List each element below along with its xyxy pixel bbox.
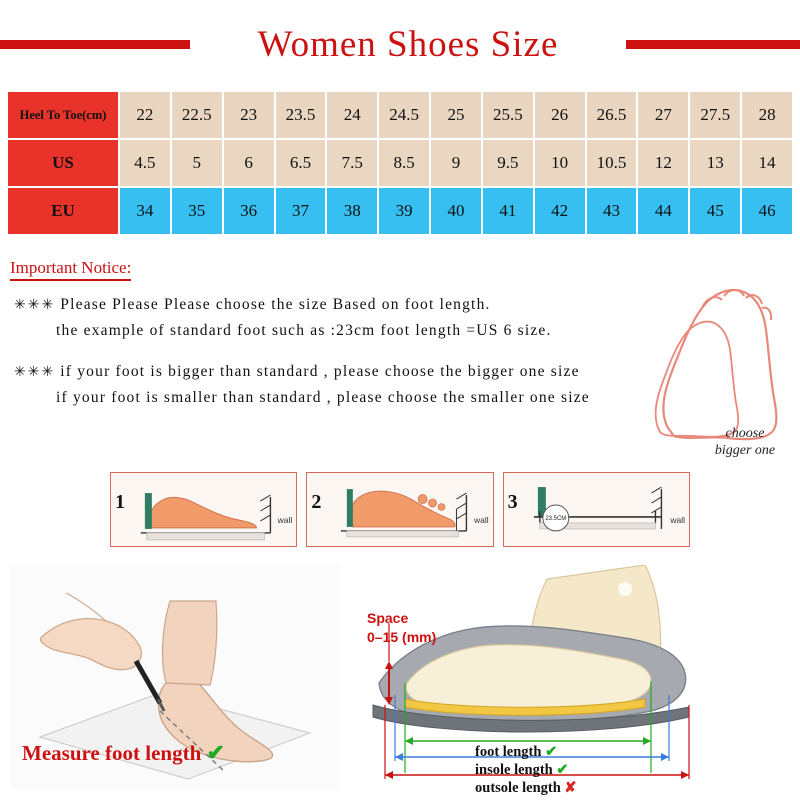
toe-circle-3 bbox=[438, 504, 445, 511]
choose-caption-line1: choose bbox=[690, 425, 800, 442]
step-3-wall-label: wall bbox=[670, 515, 685, 525]
notice-stars-2: ✳✳✳ bbox=[14, 365, 55, 380]
cell-us-0: 4.5 bbox=[119, 139, 171, 187]
title-rule-right bbox=[626, 40, 800, 49]
cell-cm-3: 23.5 bbox=[275, 91, 327, 139]
cell-us-7: 9.5 bbox=[482, 139, 534, 187]
measure-caption-text: Measure foot length bbox=[22, 741, 201, 765]
cell-cm-0: 22 bbox=[119, 91, 171, 139]
legend-item-outsole-length: outsole length ✘ bbox=[475, 779, 577, 797]
step-2-wall-label: wall bbox=[474, 515, 489, 525]
legend-item-insole-length: insole length ✔ bbox=[475, 761, 577, 779]
cell-cm-4: 24 bbox=[326, 91, 378, 139]
choose-bigger-caption: choose bigger one bbox=[690, 425, 800, 459]
cell-cm-8: 26 bbox=[534, 91, 586, 139]
cell-eu-3: 37 bbox=[275, 187, 327, 235]
step-2-number: 2 bbox=[311, 491, 321, 514]
foot-length-arrow-right bbox=[643, 737, 651, 745]
row-header-eu: EU bbox=[7, 187, 119, 235]
cell-eu-12: 46 bbox=[741, 187, 793, 235]
cell-us-1: 5 bbox=[171, 139, 223, 187]
cell-cm-2: 23 bbox=[223, 91, 275, 139]
notice-text-1: Please Please Please choose the size Bas… bbox=[60, 296, 490, 313]
notice-heading: Important Notice: bbox=[10, 258, 131, 281]
cell-us-6: 9 bbox=[430, 139, 482, 187]
foot-side-shape bbox=[149, 497, 256, 528]
notice-line-4: if your foot is smaller than standard , … bbox=[14, 385, 714, 410]
legend-item-foot-length: foot length ✔ bbox=[475, 743, 577, 761]
step-3-number: 3 bbox=[508, 491, 518, 514]
table-row: US 4.5 5 6 6.5 7.5 8.5 9 9.5 10 10.5 12 … bbox=[7, 139, 793, 187]
cell-eu-9: 43 bbox=[586, 187, 638, 235]
cell-cm-5: 24.5 bbox=[378, 91, 430, 139]
legend-label-outsole-length: outsole length bbox=[475, 780, 561, 796]
notice-spacer bbox=[14, 343, 714, 359]
step-3: 3 23.5CM wall bbox=[503, 472, 690, 547]
cell-us-5: 8.5 bbox=[378, 139, 430, 187]
paper-strip bbox=[147, 533, 265, 540]
diagram-legend: foot length ✔ insole length ✔ outsole le… bbox=[475, 743, 577, 797]
cross-icon-outsole-length: ✘ bbox=[564, 780, 576, 796]
cell-eu-4: 38 bbox=[326, 187, 378, 235]
title-rule-left bbox=[0, 40, 190, 49]
notice-line-3: ✳✳✳ if your foot is bigger than standard… bbox=[14, 359, 714, 385]
cell-eu-10: 44 bbox=[637, 187, 689, 235]
step-1-illustration bbox=[111, 473, 296, 546]
step-1-wall-label: wall bbox=[278, 515, 293, 525]
insole-length-arrow-left bbox=[395, 753, 403, 761]
cell-us-3: 6.5 bbox=[275, 139, 327, 187]
space-label: Space 0–15 (mm) bbox=[367, 609, 436, 647]
table-row: EU 34 35 36 37 38 39 40 41 42 43 44 45 4… bbox=[7, 187, 793, 235]
notice-text-2: the example of standard foot such as :23… bbox=[56, 322, 552, 339]
cell-us-9: 10.5 bbox=[586, 139, 638, 187]
space-arrow-head-top bbox=[385, 661, 393, 669]
cell-cm-10: 27 bbox=[637, 91, 689, 139]
wall-hatch-2 bbox=[457, 503, 467, 509]
foot-length-arrow-left bbox=[405, 737, 413, 745]
legend-label-insole-length: insole length bbox=[475, 762, 553, 778]
legend-label-foot-length: foot length bbox=[475, 744, 541, 760]
insole-length-arrow-right bbox=[661, 753, 669, 761]
wall-hatch-2 bbox=[651, 497, 661, 503]
notice-block: ✳✳✳ Please Please Please choose the size… bbox=[14, 292, 714, 410]
cell-us-4: 7.5 bbox=[326, 139, 378, 187]
table-row: Heel To Toe(cm) 22 22.5 23 23.5 24 24.5 … bbox=[7, 91, 793, 139]
outsole-length-arrow-left bbox=[385, 771, 393, 779]
cell-us-11: 13 bbox=[689, 139, 741, 187]
cell-eu-11: 45 bbox=[689, 187, 741, 235]
heel-wall-marker bbox=[145, 493, 152, 529]
cell-cm-12: 28 bbox=[741, 91, 793, 139]
check-icon-insole-length: ✔ bbox=[556, 762, 568, 778]
cell-us-10: 12 bbox=[637, 139, 689, 187]
ankle-highlight bbox=[618, 582, 632, 596]
paper-strip bbox=[347, 531, 459, 537]
row-header-us: US bbox=[7, 139, 119, 187]
wall-hatch-1 bbox=[651, 487, 661, 493]
cell-eu-8: 42 bbox=[534, 187, 586, 235]
notice-line-2: the example of standard foot such as :23… bbox=[14, 318, 714, 343]
notice-text-3: if your foot is bigger than standard , p… bbox=[60, 363, 579, 380]
cell-us-2: 6 bbox=[223, 139, 275, 187]
toe-circle-2 bbox=[429, 499, 437, 507]
toe-circle-1 bbox=[418, 495, 427, 504]
check-icon: ✔ bbox=[207, 740, 225, 765]
wall-hatch-1 bbox=[260, 495, 270, 501]
cell-cm-11: 27.5 bbox=[689, 91, 741, 139]
measure-foot-caption: Measure foot length ✔ bbox=[22, 740, 225, 766]
space-label-line2: 0–15 (mm) bbox=[367, 628, 436, 647]
outsole-length-arrow-right bbox=[681, 771, 689, 779]
cell-eu-2: 36 bbox=[223, 187, 275, 235]
cell-cm-7: 25.5 bbox=[482, 91, 534, 139]
foot-inner-outline bbox=[656, 322, 739, 437]
cell-us-12: 14 bbox=[741, 139, 793, 187]
cell-us-8: 10 bbox=[534, 139, 586, 187]
cell-eu-5: 39 bbox=[378, 187, 430, 235]
step-1: 1 wall bbox=[110, 472, 297, 547]
leg-shape bbox=[163, 601, 217, 685]
wall-hatch-3 bbox=[457, 513, 467, 519]
step-2: 2 wall bbox=[306, 472, 493, 547]
choose-caption-line2: bigger one bbox=[690, 442, 800, 459]
shoe-cross-section-diagram: Space 0–15 (mm) foot length ✔ insole len… bbox=[345, 565, 800, 795]
cell-eu-7: 41 bbox=[482, 187, 534, 235]
step-1-number: 1 bbox=[115, 491, 125, 514]
step-3-illustration: 23.5CM bbox=[504, 473, 689, 546]
cell-cm-9: 26.5 bbox=[586, 91, 638, 139]
cell-cm-6: 25 bbox=[430, 91, 482, 139]
ruler-value-label: 23.5CM bbox=[545, 516, 566, 522]
notice-line-1: ✳✳✳ Please Please Please choose the size… bbox=[14, 292, 714, 318]
size-chart-table: Heel To Toe(cm) 22 22.5 23 23.5 24 24.5 … bbox=[6, 90, 794, 236]
wall-hatch-3 bbox=[651, 507, 661, 513]
page-title: Women Shoes Size bbox=[190, 23, 626, 66]
foot-outer-outline bbox=[663, 290, 776, 439]
step-2-illustration bbox=[307, 473, 492, 546]
notice-stars-1: ✳✳✳ bbox=[14, 298, 55, 313]
page-title-row: Women Shoes Size bbox=[0, 18, 800, 70]
space-label-line1: Space bbox=[367, 609, 436, 628]
notice-text-4: if your foot is smaller than standard , … bbox=[56, 389, 590, 406]
wall-hatch-1 bbox=[457, 493, 467, 499]
check-icon-foot-length: ✔ bbox=[545, 744, 557, 760]
wall-hatch-3 bbox=[260, 515, 270, 521]
measure-steps: 1 wall 2 bbox=[110, 472, 690, 547]
cell-eu-6: 40 bbox=[430, 187, 482, 235]
wall-hatch-2 bbox=[260, 505, 270, 511]
cell-eu-1: 35 bbox=[171, 187, 223, 235]
cell-eu-0: 34 bbox=[119, 187, 171, 235]
heel-wall-marker bbox=[347, 489, 353, 527]
row-header-heel-to-toe: Heel To Toe(cm) bbox=[7, 91, 119, 139]
cell-cm-1: 22.5 bbox=[171, 91, 223, 139]
